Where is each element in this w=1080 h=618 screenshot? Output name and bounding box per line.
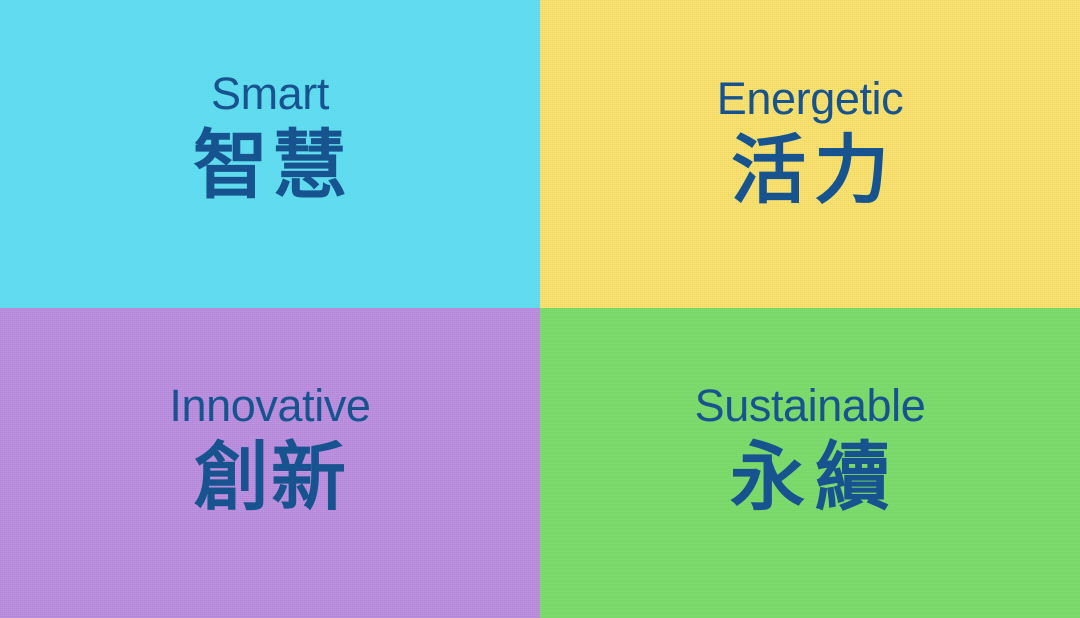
- quadrant-energetic-text-stack: Energetic 活力: [717, 75, 904, 215]
- quadrant-innovative-text-stack: Innovative 創新: [169, 382, 370, 522]
- quadrant-innovative-chinese-label: 創新: [192, 433, 348, 522]
- quadrant-innovative[interactable]: Innovative 創新: [0, 308, 540, 618]
- quadrant-smart-text-stack: Smart 智慧: [189, 70, 351, 210]
- quadrant-smart[interactable]: Smart 智慧: [0, 0, 540, 308]
- quadrant-innovative-english-label: Innovative: [169, 382, 370, 429]
- brand-values-grid: Smart 智慧 Energetic 活力 Innovative 創新 Sust…: [0, 0, 1080, 618]
- quadrant-sustainable-chinese-label: 永續: [720, 433, 900, 522]
- quadrant-energetic-english-label: Energetic: [717, 75, 904, 122]
- quadrant-energetic-chinese-label: 活力: [723, 126, 897, 215]
- quadrant-sustainable-english-label: Sustainable: [695, 382, 926, 429]
- quadrant-smart-chinese-label: 智慧: [189, 121, 351, 210]
- quadrant-energetic[interactable]: Energetic 活力: [540, 0, 1080, 308]
- quadrant-smart-english-label: Smart: [211, 70, 329, 117]
- quadrant-sustainable[interactable]: Sustainable 永續: [540, 308, 1080, 618]
- quadrant-sustainable-text-stack: Sustainable 永續: [695, 382, 926, 522]
